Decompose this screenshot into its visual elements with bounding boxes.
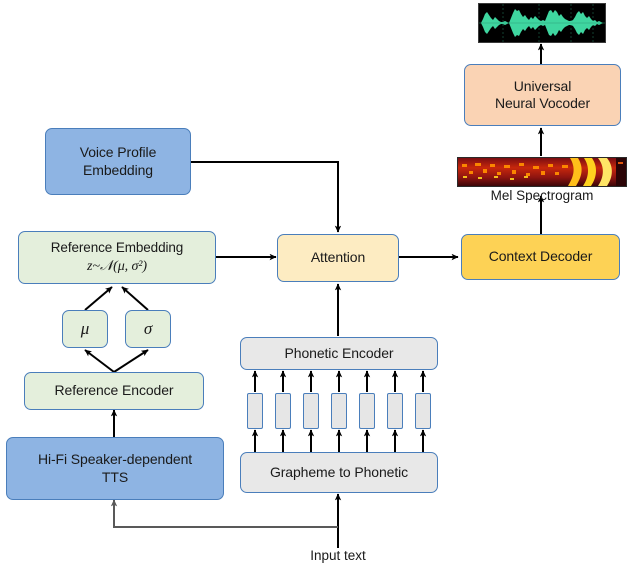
input-text-caption: Input text [268, 548, 408, 563]
node-sigma[interactable]: σ [125, 310, 171, 348]
phoneme-token-4[interactable] [331, 393, 347, 429]
node-phonetic-encoder[interactable]: Phonetic Encoder [240, 337, 438, 370]
context-decoder-label: Context Decoder [462, 248, 619, 266]
mel-spectrogram-figure [457, 157, 627, 187]
reference-embedding-line1: Reference Embedding [51, 240, 183, 255]
hifi-tts-line2: TTS [102, 469, 128, 485]
voice-profile-embedding-line2: Embedding [83, 162, 153, 178]
voice-profile-embedding-label: Voice Profile Embedding [46, 144, 190, 179]
speech-waveform-icon [479, 4, 605, 42]
phoneme-token-7[interactable] [415, 393, 431, 429]
phoneme-token-6[interactable] [387, 393, 403, 429]
mel-spectrogram-caption: Mel Spectrogram [457, 188, 627, 203]
node-voice-profile-embedding[interactable]: Voice Profile Embedding [45, 128, 191, 195]
universal-neural-vocoder-label: Universal Neural Vocoder [465, 78, 620, 113]
grapheme-to-phonetic-label: Grapheme to Phonetic [241, 464, 437, 482]
node-reference-embedding[interactable]: Reference Embedding z~𝒩(μ, σ²) [18, 231, 216, 284]
reference-encoder-label: Reference Encoder [25, 382, 203, 400]
phoneme-token-3[interactable] [303, 393, 319, 429]
hifi-tts-line1: Hi-Fi Speaker-dependent [38, 451, 192, 467]
node-hifi-speaker-dependent-tts[interactable]: Hi-Fi Speaker-dependent TTS [6, 437, 224, 500]
node-reference-encoder[interactable]: Reference Encoder [24, 372, 204, 410]
phoneme-token-2[interactable] [275, 393, 291, 429]
speech-waveform-figure [478, 3, 606, 43]
sigma-label: σ [126, 318, 170, 339]
mu-label: μ [63, 318, 107, 339]
phoneme-token-5[interactable] [359, 393, 375, 429]
reference-embedding-label: Reference Embedding z~𝒩(μ, σ²) [19, 239, 215, 275]
node-attention[interactable]: Attention [277, 234, 399, 282]
hifi-tts-label: Hi-Fi Speaker-dependent TTS [7, 451, 223, 486]
phoneme-token-1[interactable] [247, 393, 263, 429]
universal-neural-vocoder-line2: Neural Vocoder [495, 95, 590, 111]
node-mu[interactable]: μ [62, 310, 108, 348]
voice-profile-embedding-line1: Voice Profile [80, 144, 157, 160]
attention-label: Attention [278, 249, 398, 267]
node-universal-neural-vocoder[interactable]: Universal Neural Vocoder [464, 64, 621, 126]
node-grapheme-to-phonetic[interactable]: Grapheme to Phonetic [240, 452, 438, 493]
mel-spectrogram-icon [458, 158, 626, 186]
architecture-diagram: Voice Profile Embedding Reference Embedd… [0, 0, 628, 570]
node-context-decoder[interactable]: Context Decoder [461, 234, 620, 280]
universal-neural-vocoder-line1: Universal [514, 78, 571, 94]
reference-embedding-formula: z~𝒩(μ, σ²) [87, 259, 147, 274]
phonetic-encoder-label: Phonetic Encoder [241, 345, 437, 363]
